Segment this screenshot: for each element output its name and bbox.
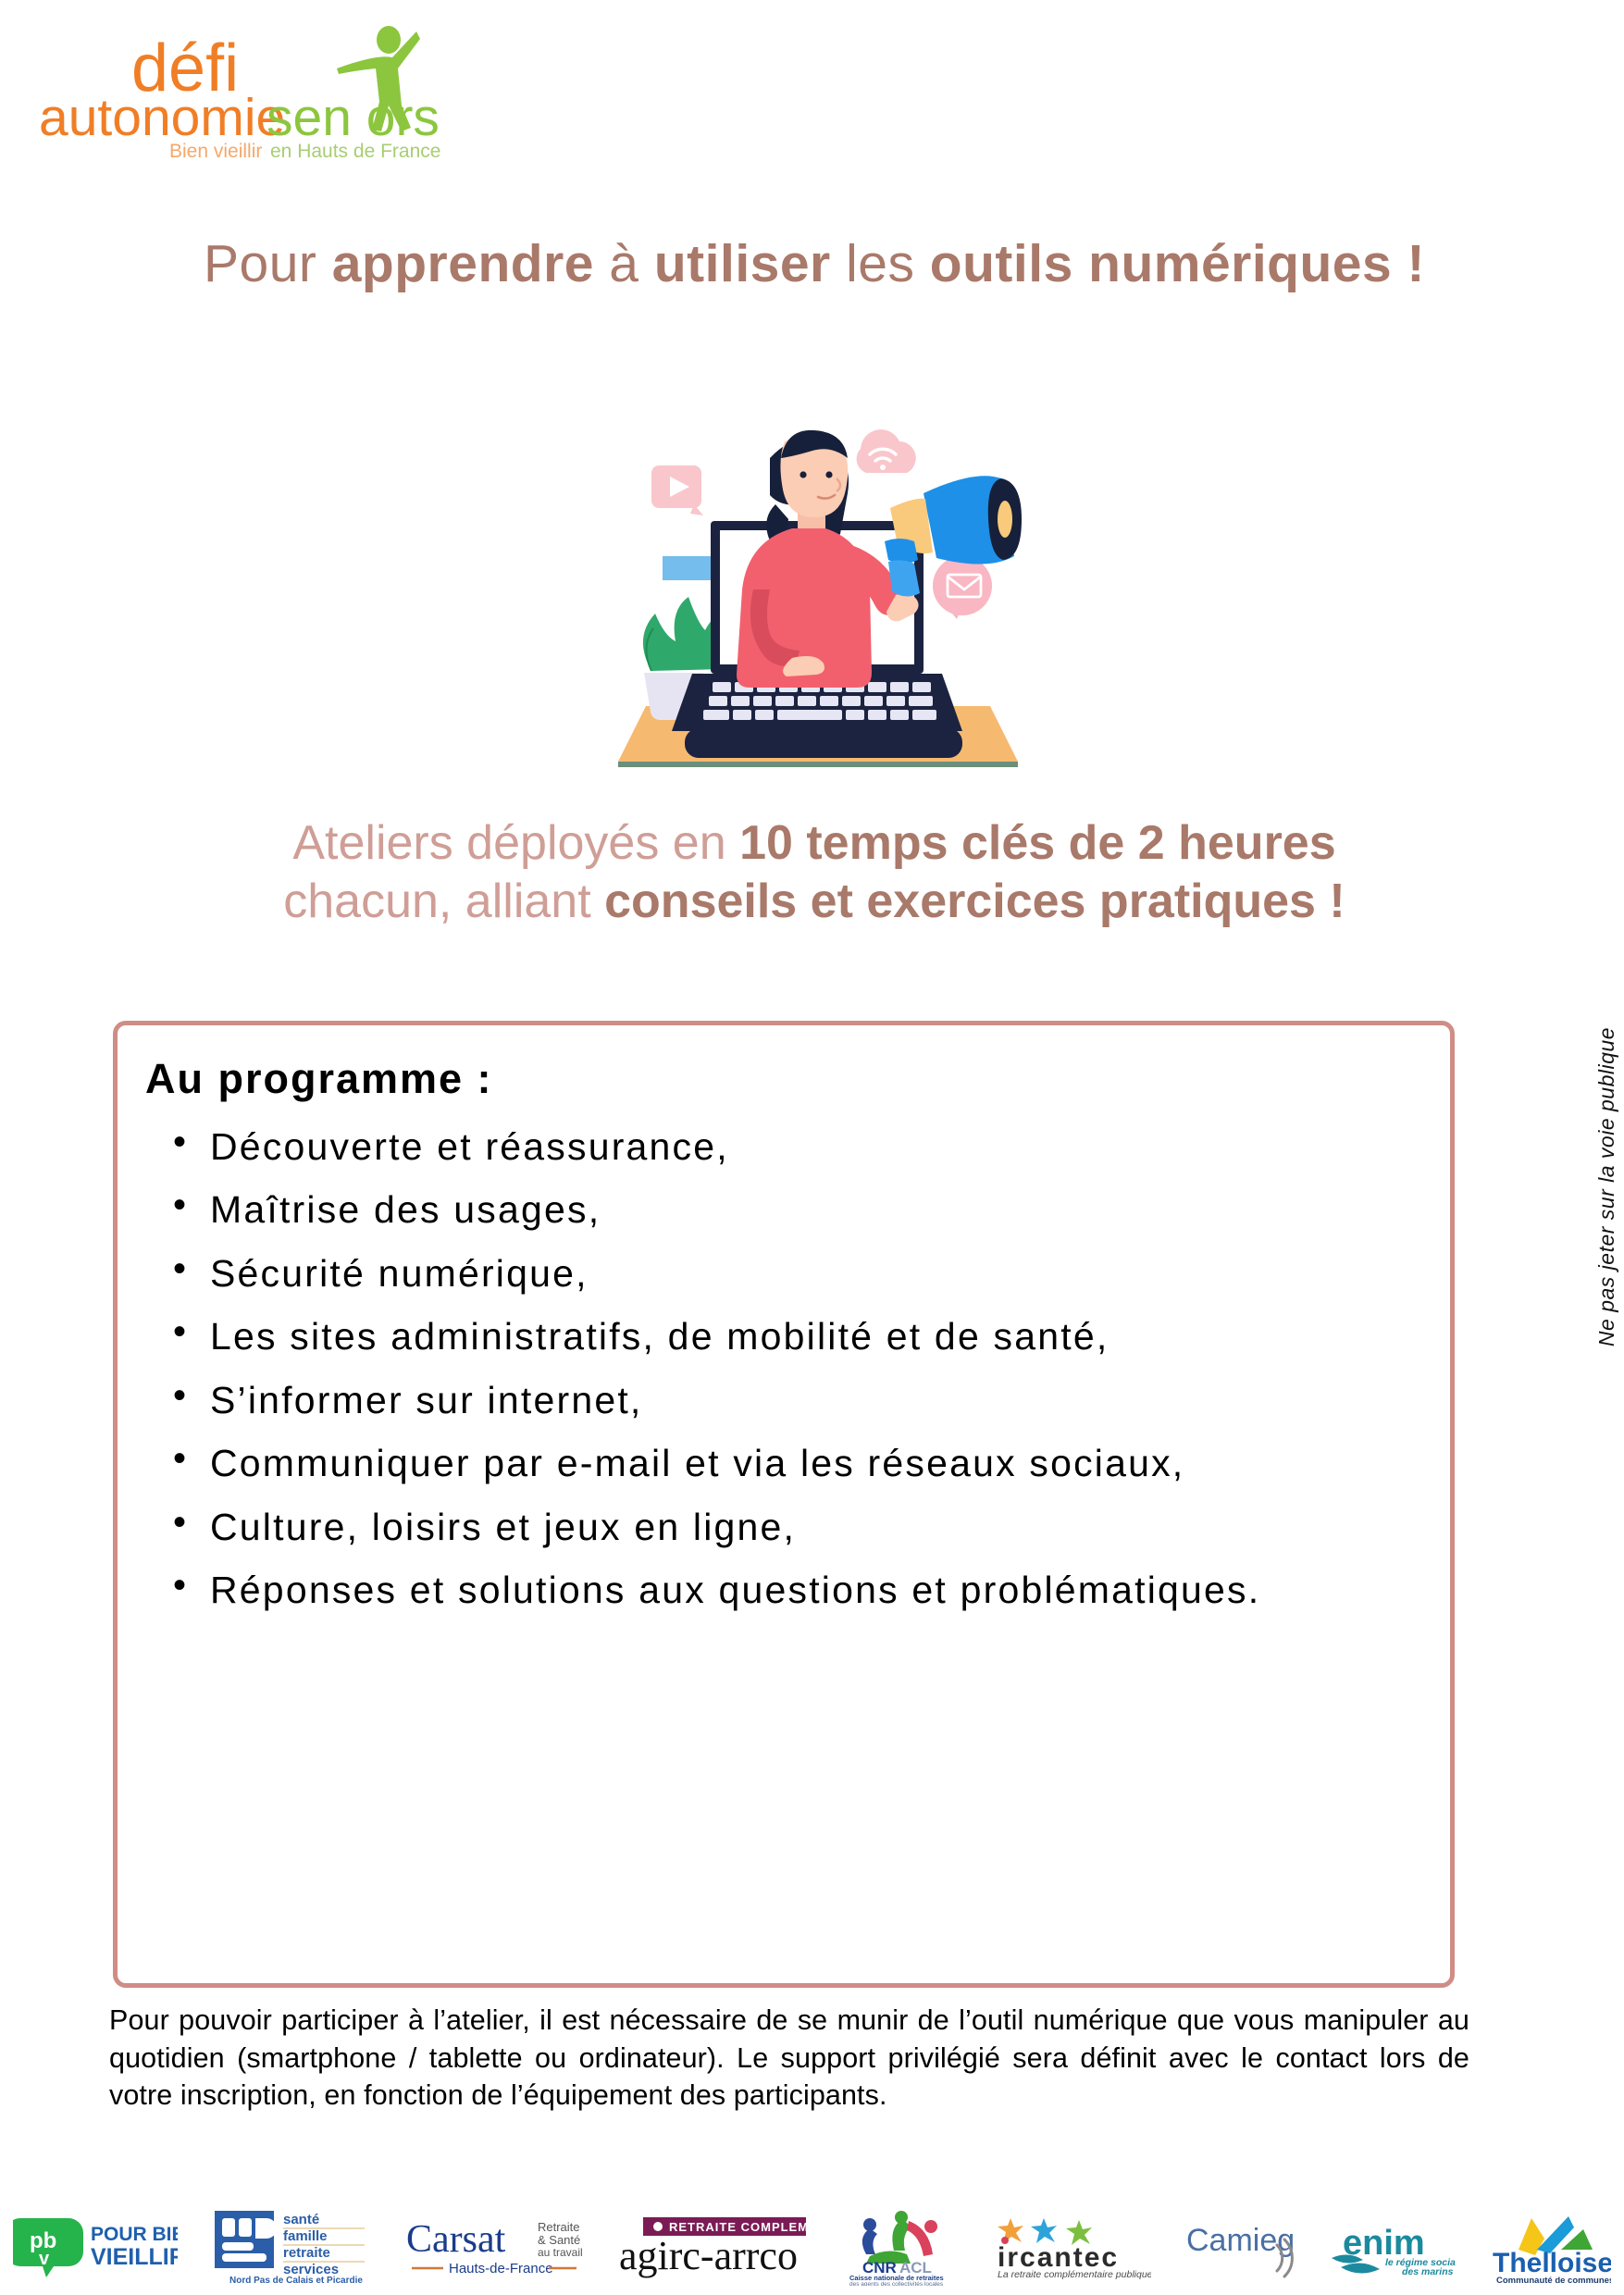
logo-tagline-green: en Hauts de France [270, 141, 440, 162]
list-item: •Découverte et réassurance, [164, 1123, 1422, 1171]
logo-msa: santé famille retraite services Nord Pas… [211, 2209, 368, 2287]
camieg-title: Camieg [1186, 2223, 1295, 2258]
list-item: •Sécurité numérique, [164, 1249, 1422, 1297]
list-item: •Culture, loisirs et jeux en ligne, [164, 1503, 1422, 1551]
bullet-icon: • [173, 1246, 188, 1293]
logo-enim: enim le régime social des marins [1330, 2217, 1456, 2278]
msa-word-1: santé [283, 2212, 319, 2227]
list-item-label: S’informer sur internet, [210, 1379, 643, 1421]
thelloise-title: Thelloise [1493, 2248, 1611, 2278]
subtitle: Ateliers déployés en 10 temps clés de 2 … [102, 814, 1527, 932]
subtitle-light-1: Ateliers déployés en [292, 816, 739, 870]
brand-logo: défi autonomie sen ors Bien vieillir en … [19, 17, 509, 165]
logo-ircantec: ircantec La retraite complémentaire publ… [996, 2214, 1151, 2281]
msa-caption: Nord Pas de Calais et Picardie [229, 2276, 363, 2286]
envelope-icon [933, 556, 992, 619]
list-item: •Maîtrise des usages, [164, 1185, 1422, 1234]
wifi-cloud-icon [857, 429, 916, 473]
logo-word-autonomie: autonomie [39, 88, 285, 147]
defi-autonomie-seniors-logo: défi autonomie sen ors Bien vieillir en … [19, 17, 509, 165]
subtitle-light-2: chacun, alliant [283, 875, 604, 928]
list-item: •Les sites administratifs, de mobilité e… [164, 1312, 1422, 1360]
logo-agirc-arrco: RETRAITE COMPLEMENTAIRE agirc-arrco [617, 2215, 808, 2280]
pbv-line1: POUR BIEN [91, 2224, 178, 2245]
logo-word-seniors: sen ors [267, 88, 440, 147]
enim-caption-2: des marins [1402, 2266, 1454, 2277]
pbv-line2: VIEILLIR [91, 2244, 178, 2270]
carsat-title: Carsat [406, 2218, 506, 2261]
list-item: •Communiquer par e-mail et via les résea… [164, 1439, 1422, 1487]
list-item-label: Communiquer par e-mail et via les réseau… [210, 1442, 1184, 1484]
programme-box: Au programme : •Découverte et réassuranc… [113, 1021, 1455, 1988]
headline-part-2: apprendre [332, 234, 594, 293]
headline-part-6: outils numériques ! [930, 234, 1425, 293]
cnracl-people-icon [862, 2211, 936, 2264]
footnote-text: Pour pouvoir participer à l’atelier, il … [109, 2002, 1469, 2115]
subtitle-strong-2: conseils et exercices pratiques ! [604, 875, 1345, 928]
carsat-side-3: au travail [538, 2246, 583, 2259]
bullet-icon: • [173, 1499, 188, 1546]
list-item-label: Maîtrise des usages, [210, 1188, 601, 1231]
bullet-icon: • [173, 1372, 188, 1420]
logo-thelloise: Thelloise Communauté de communes [1489, 2209, 1611, 2287]
carsat-side-2: & Santé [538, 2233, 580, 2247]
desk-edge [618, 762, 1018, 767]
svg-text:v: v [39, 2249, 50, 2269]
carsat-caption: Hauts-de-France [449, 2261, 553, 2276]
programme-list: •Découverte et réassurance, •Maîtrise de… [164, 1123, 1422, 1630]
agirc-title: agirc-arrco [619, 2233, 798, 2278]
bullet-icon: • [173, 1435, 188, 1482]
ircantec-stars-icon [998, 2218, 1092, 2245]
list-item: •S’informer sur internet, [164, 1376, 1422, 1424]
cnracl-caption-2: des agents des collectivités locales [849, 2281, 944, 2286]
logo-tagline-orange: Bien vieillir [169, 141, 262, 162]
logo-carsat: Carsat Retraite & Santé au travail Hauts… [403, 2214, 584, 2281]
video-play-icon [651, 465, 703, 515]
eye-left [800, 471, 806, 478]
headline-part-3: à [594, 234, 654, 293]
headline-part-5: les [831, 234, 930, 293]
list-item-label: Découverte et réassurance, [210, 1125, 729, 1168]
ircantec-caption: La retraite complémentaire publique [998, 2269, 1151, 2280]
logo-pour-bien-vieillir: pb v POUR BIEN VIEILLIR [13, 2213, 178, 2283]
disposal-notice: Ne pas jeter sur la voie publique [1594, 1027, 1619, 1346]
eye-right [825, 471, 832, 478]
logo-camieg: Camieg [1184, 2217, 1295, 2278]
list-item-label: Les sites administratifs, de mobilité et… [210, 1315, 1109, 1358]
logo-cnracl: CNR ACL Caisse nationale de retraites de… [842, 2210, 962, 2286]
partner-logos-strip: pb v POUR BIEN VIEILLIR santé famille re… [0, 2201, 1624, 2295]
bullet-icon: • [173, 1562, 188, 1609]
list-item-label: Réponses et solutions aux questions et p… [210, 1569, 1260, 1611]
list-item-label: Culture, loisirs et jeux en ligne, [210, 1506, 796, 1548]
carsat-side-1: Retraite [538, 2220, 580, 2234]
list-item: •Réponses et solutions aux questions et … [164, 1566, 1422, 1614]
programme-title: Au programme : [145, 1055, 493, 1103]
enim-wave-2 [1341, 2263, 1380, 2273]
bullet-icon: • [173, 1119, 188, 1166]
page-title: Pour apprendre à utiliser les outils num… [167, 233, 1462, 295]
hero-illustration [555, 393, 1083, 791]
subtitle-strong-1: 10 temps clés de 2 heures [739, 816, 1336, 870]
bullet-icon: • [173, 1309, 188, 1356]
headline-part-1: Pour [204, 234, 332, 293]
thelloise-caption: Communauté de communes [1496, 2276, 1611, 2286]
headline-part-4: utiliser [654, 234, 831, 293]
list-item-label: Sécurité numérique, [210, 1252, 589, 1295]
msa-word-3: retraite [283, 2245, 330, 2261]
bullet-icon: • [173, 1182, 188, 1229]
msa-word-2: famille [283, 2228, 328, 2244]
agirc-banner-label: RETRAITE COMPLEMENTAIRE [669, 2220, 808, 2234]
